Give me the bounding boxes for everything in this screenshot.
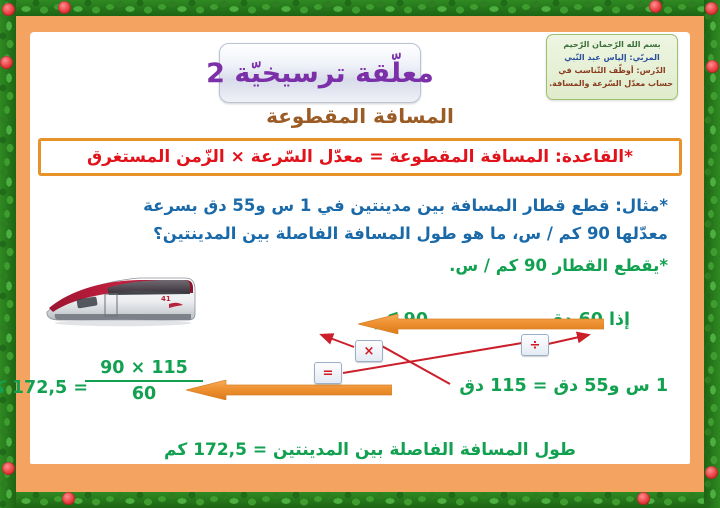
rose-icon: [705, 466, 718, 479]
divide-operator-box[interactable]: ÷: [521, 334, 549, 356]
info-basmala: بسم الله الرّحمان الرّحيم: [551, 38, 673, 51]
fraction-denominator: 60: [85, 383, 203, 404]
page-title: معلّقة ترسيخيّة 2: [206, 58, 434, 89]
example-line-2: معدّلها 90 كم / س، ما هو طول المسافة الف…: [58, 224, 668, 243]
rose-icon: [2, 462, 15, 475]
lesson-info-box: بسم الله الرّحمان الرّحيم المربّي: إلياس…: [546, 34, 678, 100]
garland-border-right: [704, 0, 720, 508]
info-lesson-line1: الدّرس: أوظّف التّناسب في: [551, 64, 673, 77]
fraction-expression: 90 × 115 60: [85, 358, 203, 404]
page-body: معلّقة ترسيخيّة 2 بسم الله الرّحمان الرّ…: [30, 32, 690, 464]
svg-text:41: 41: [161, 295, 171, 303]
fraction-numerator: 90 × 115: [85, 358, 203, 379]
rule-text: *القاعدة: المسافة المقطوعة = معدّل السّر…: [87, 147, 633, 167]
rose-icon: [637, 492, 650, 505]
arrow-left-bottom: [186, 380, 392, 400]
poster-canvas: معلّقة ترسيخيّة 2 بسم الله الرّحمان الرّ…: [0, 0, 720, 508]
info-lesson-line2: حساب معدّل السّرعة والمسافة.: [551, 77, 673, 90]
final-answer: طول المسافة الفاصلة بين المدينتين = 172,…: [50, 440, 690, 460]
arrow-left-top: [358, 314, 604, 334]
solution-time-115: 1 س و55 دق = 115 دق: [459, 376, 668, 396]
rose-icon: [2, 3, 15, 16]
rose-icon: [705, 2, 718, 15]
fraction-bar: [85, 380, 203, 382]
rose-icon: [0, 56, 13, 69]
page-subtitle: المسافة المقطوعة: [30, 104, 690, 128]
garland-border-left: [0, 0, 16, 508]
rose-icon: [58, 1, 71, 14]
garland-border-top: [0, 0, 720, 16]
equals-operator-box[interactable]: =: [314, 362, 342, 384]
example-line-1: *مثال: قطع قطار المسافة بين مدينتين في 1…: [58, 196, 668, 215]
rose-icon: [62, 492, 75, 505]
rule-box: *القاعدة: المسافة المقطوعة = معدّل السّر…: [38, 138, 682, 176]
rose-icon: [706, 60, 719, 73]
train-illustration: 41: [43, 268, 198, 330]
page-title-box: معلّقة ترسيخيّة 2: [219, 43, 421, 103]
multiply-operator-box[interactable]: ×: [355, 340, 383, 362]
solution-result: = 172,5 كم: [30, 378, 88, 398]
garland-border-bottom: [0, 492, 720, 508]
rose-icon: [649, 0, 662, 13]
info-teacher: المربّي: إلياس عبد النّبي: [551, 51, 673, 64]
